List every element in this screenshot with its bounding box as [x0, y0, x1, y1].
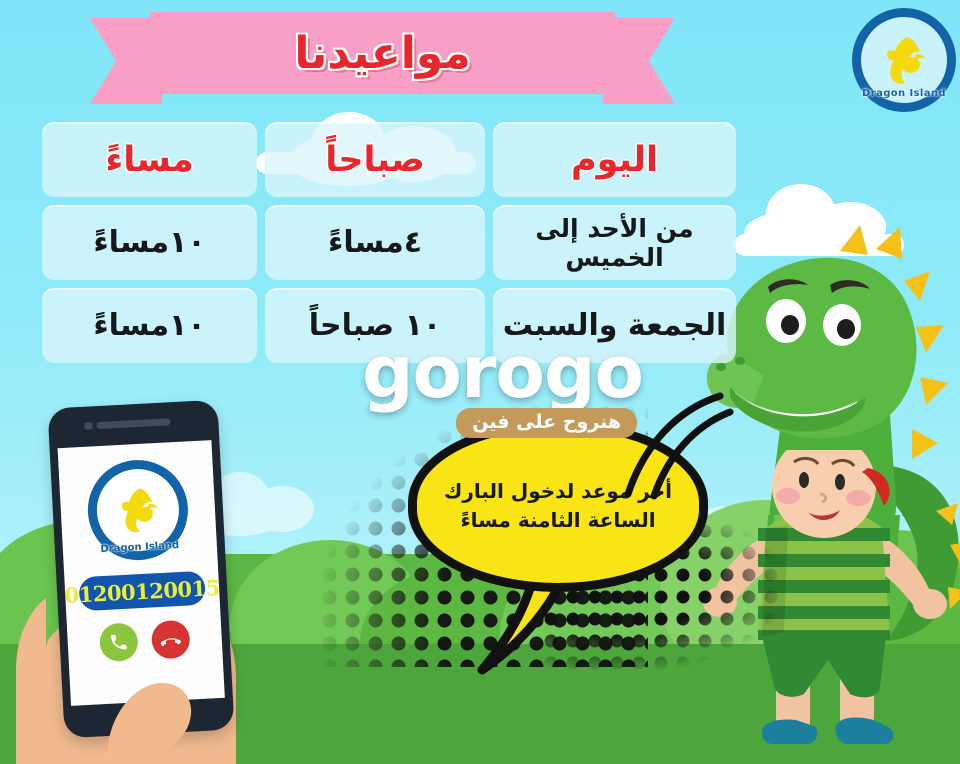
logo-name: Dragon Island — [861, 88, 947, 99]
caller-avatar: Dragon Island — [85, 458, 190, 563]
header-cell-day: اليوم — [493, 122, 736, 197]
phone-call-icon[interactable] — [99, 622, 139, 662]
row-0-evening-value: ١٠مساءً — [93, 225, 205, 260]
caller-number: 01200120015 — [78, 571, 206, 612]
caller-logo-ring: Dragon Island — [85, 458, 190, 563]
dragon-icon — [110, 482, 167, 539]
row-0-morning-value: ٤مساءً — [328, 225, 422, 260]
header-cell-evening: مساءً — [42, 122, 257, 197]
phone-hangup-icon[interactable] — [151, 620, 191, 660]
row-0-day-value: من الأحد إلى الخميس — [493, 214, 736, 272]
row-0-morning-cell: ٤مساءً — [265, 205, 485, 280]
row-0-day-cell: من الأحد إلى الخميس — [493, 205, 736, 280]
row-1-evening-cell: ١٠مساءً — [42, 288, 257, 363]
dragon-island-logo: Dragon Island — [852, 8, 956, 112]
caller-name: Dragon Island — [99, 540, 181, 555]
table-row: من الأحد إلى الخميس ٤مساءً ١٠مساءً — [42, 205, 736, 280]
watermark: gorogo هنروح على فين — [303, 338, 643, 438]
poster-canvas: أخر موعد لدخول البارك الساعة الثامنة مسا… — [0, 0, 960, 764]
decline-call-glyph — [160, 629, 181, 650]
header-evening-label: مساءً — [105, 140, 193, 180]
header-morning-label: صباحاً — [325, 140, 425, 180]
table-header-row: اليوم صباحاً مساءً — [42, 122, 736, 197]
thumb — [96, 660, 226, 764]
row-1-evening-value: ١٠مساءً — [93, 308, 205, 343]
watermark-tagline: هنروح على فين — [456, 408, 637, 438]
phone-camera — [84, 422, 92, 429]
row-0-evening-cell: ١٠مساءً — [42, 205, 257, 280]
notice-line-2: الساعة الثامنة مساءً — [460, 506, 655, 535]
dragon-icon — [875, 31, 933, 89]
header-cell-morning: صباحاً — [265, 122, 485, 197]
watermark-brand: gorogo — [303, 338, 643, 406]
phone-speaker — [96, 418, 170, 429]
page-title: مواعيدنا — [150, 12, 615, 94]
ribbon-banner: مواعيدنا — [150, 12, 615, 108]
accept-call-glyph — [108, 632, 129, 653]
header-day-label: اليوم — [571, 140, 658, 180]
logo-ring: Dragon Island — [852, 8, 956, 112]
